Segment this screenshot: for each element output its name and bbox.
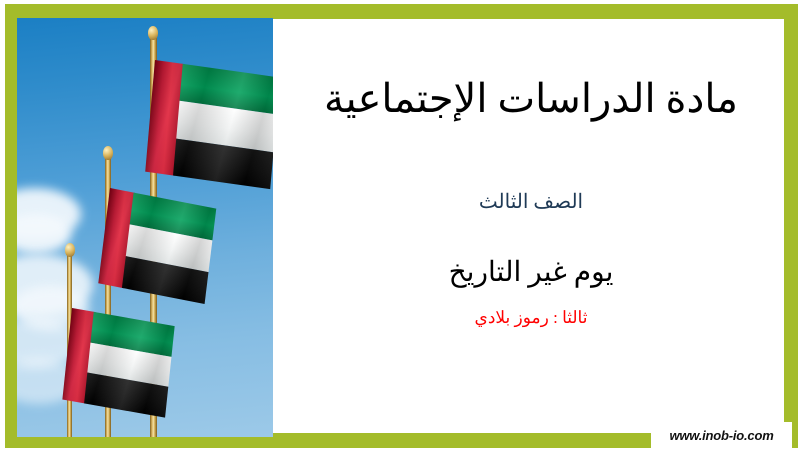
watermark-box: www.inob-io.com [651,422,792,448]
presentation-slide: مادة الدراسات الإجتماعية الصف الثالث يوم… [0,0,801,453]
flag-stripes [122,193,216,304]
uae-flags-photo [17,18,273,437]
uae-flag-middle [98,188,216,304]
flag-stripes [84,312,175,418]
slide-date-line: يوم غير التاريخ [282,256,780,290]
frame-border-top [5,4,798,19]
slide-text-column: مادة الدراسات الإجتماعية الصف الثالث يوم… [282,18,780,437]
flagpole-finial [103,146,113,160]
page-title: مادة الدراسات الإجتماعية [282,76,780,122]
slide-subtitle: الصف الثالث [282,190,780,214]
flag-stripes [173,64,273,189]
uae-flag-back [145,60,273,189]
watermark-url: www.inob-io.com [669,428,773,443]
flagpole-finial [65,243,75,257]
slide-topic-line: ثالثا : رموز بلادي [282,308,780,328]
flagpole-finial [148,26,158,40]
uae-flag-front [62,308,174,418]
frame-border-right [784,4,798,448]
